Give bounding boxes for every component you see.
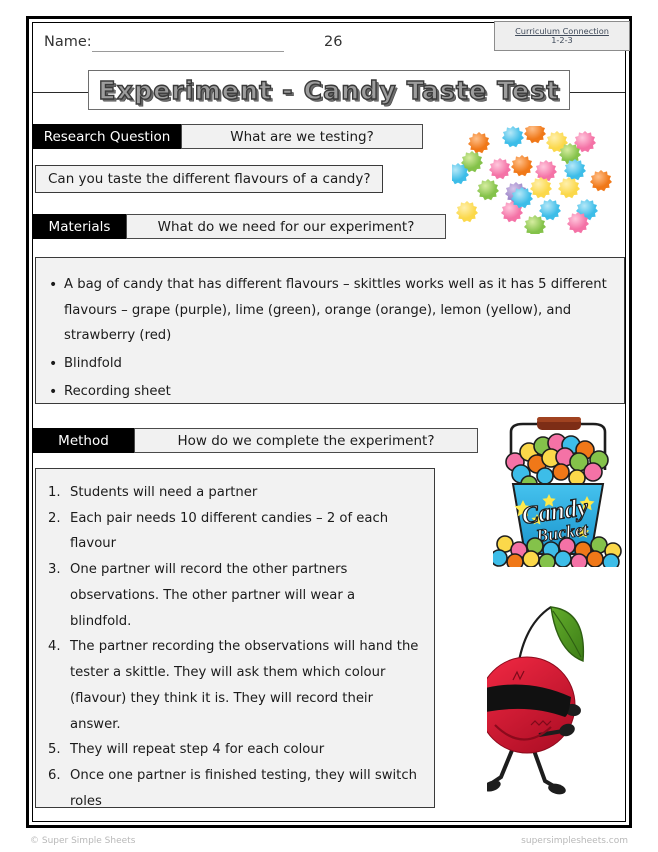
tab-question-materials: What do we need for our experiment?: [126, 214, 446, 239]
title-banner: Experiment - Candy Taste Test: [88, 70, 570, 110]
list-item: Students will need a partner: [70, 480, 420, 506]
materials-list: A bag of candy that has different flavou…: [36, 258, 624, 415]
name-input-line[interactable]: [92, 51, 284, 52]
list-item: They will repeat step 4 for each colour: [70, 737, 420, 763]
name-label: Name:: [44, 34, 92, 50]
footer-website: supersimplesheets.com: [521, 836, 628, 846]
scattered-candies-image: [452, 126, 622, 234]
tab-question-research-question: What are we testing?: [181, 124, 423, 149]
list-item: The partner recording the observations w…: [70, 634, 420, 737]
section-header-method: Method How do we complete the experiment…: [33, 428, 478, 453]
research-question-answer-box: Can you taste the different flavours of …: [35, 165, 383, 193]
blindfolded-cherry-image: [487, 585, 632, 820]
list-item: Each pair needs 10 different candies – 2…: [70, 506, 420, 557]
materials-list-box: A bag of candy that has different flavou…: [35, 257, 625, 404]
list-item: A bag of candy that has different flavou…: [64, 272, 608, 349]
section-header-materials: Materials What do we need for our experi…: [33, 214, 446, 239]
tab-label-method: Method: [33, 428, 134, 453]
candy-bucket-image: Candy Bucket: [493, 412, 623, 567]
footer-copyright: © Super Simple Sheets: [30, 836, 135, 846]
section-header-research-question: Research Question What are we testing?: [33, 124, 423, 149]
research-question-answer: Can you taste the different flavours of …: [36, 171, 371, 187]
list-item: Recording sheet: [64, 379, 608, 405]
footer: © Super Simple Sheets supersimplesheets.…: [26, 836, 632, 850]
tab-label-materials: Materials: [33, 214, 126, 239]
method-list-box: Students will need a partner Each pair n…: [35, 468, 435, 808]
method-list: Students will need a partner Each pair n…: [36, 469, 434, 823]
list-item: Once one partner is finished testing, th…: [70, 763, 420, 814]
list-item: Blindfold: [64, 351, 608, 377]
page-number: 26: [324, 34, 342, 50]
curriculum-connection-grades: 1-2-3: [551, 36, 573, 45]
tab-question-method: How do we complete the experiment?: [134, 428, 478, 453]
curriculum-connection-box: Curriculum Connection 1-2-3: [494, 21, 630, 51]
tab-label-research-question: Research Question: [33, 124, 181, 149]
page-title: Experiment - Candy Taste Test: [99, 76, 560, 105]
list-item: One partner will record the other partne…: [70, 557, 420, 634]
